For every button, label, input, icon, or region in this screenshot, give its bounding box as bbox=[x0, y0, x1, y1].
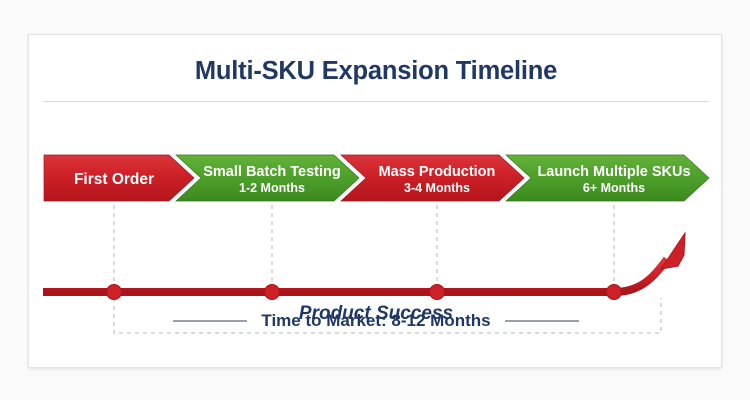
footer-label: Time to Market: 8-12 Months bbox=[261, 311, 490, 331]
stage-label-2: Small Batch Testing bbox=[203, 164, 341, 180]
time-to-market-footer: Time to Market: 8-12 Months bbox=[29, 311, 723, 331]
stage-marker-4[interactable] bbox=[607, 285, 622, 300]
stage-label-1: First Order bbox=[74, 171, 154, 188]
stage-chevron-launch-multiple-skus[interactable]: Launch Multiple SKUs 6+ Months bbox=[506, 155, 709, 201]
stage-chevron-first-order[interactable]: First Order bbox=[44, 155, 194, 201]
stage-duration-3: 3-4 Months bbox=[404, 181, 470, 195]
stage-marker-1[interactable] bbox=[107, 285, 122, 300]
stage-chevron-band: First Order Small Batch Testing 1-2 Mont… bbox=[29, 153, 723, 203]
stage-duration-2: 1-2 Months bbox=[239, 181, 305, 195]
chevron-svg: First Order Small Batch Testing 1-2 Mont… bbox=[29, 153, 723, 203]
trend-svg bbox=[29, 203, 723, 369]
footer-rule-left bbox=[173, 320, 247, 322]
trend-line-path bbox=[43, 259, 667, 292]
title-divider bbox=[43, 101, 709, 102]
stage-label-4: Launch Multiple SKUs bbox=[537, 164, 690, 180]
dashed-connectors-top bbox=[114, 205, 614, 292]
page-title: Multi-SKU Expansion Timeline bbox=[29, 57, 723, 86]
stage-chevron-mass-production[interactable]: Mass Production 3-4 Months bbox=[341, 155, 524, 201]
stage-label-3: Mass Production bbox=[379, 164, 496, 180]
trend-arrowhead bbox=[661, 233, 685, 269]
screenshot-root: Multi-SKU Expansion Timeline bbox=[0, 0, 750, 400]
timeline-card: Multi-SKU Expansion Timeline bbox=[28, 34, 722, 368]
trend-line bbox=[43, 233, 685, 292]
stage-duration-4: 6+ Months bbox=[583, 181, 645, 195]
stage-chevron-small-batch-testing[interactable]: Small Batch Testing 1-2 Months bbox=[176, 155, 359, 201]
footer-rule-right bbox=[505, 320, 579, 322]
trend-line-area bbox=[29, 203, 723, 369]
stage-marker-3[interactable] bbox=[430, 285, 445, 300]
stage-marker-2[interactable] bbox=[265, 285, 280, 300]
